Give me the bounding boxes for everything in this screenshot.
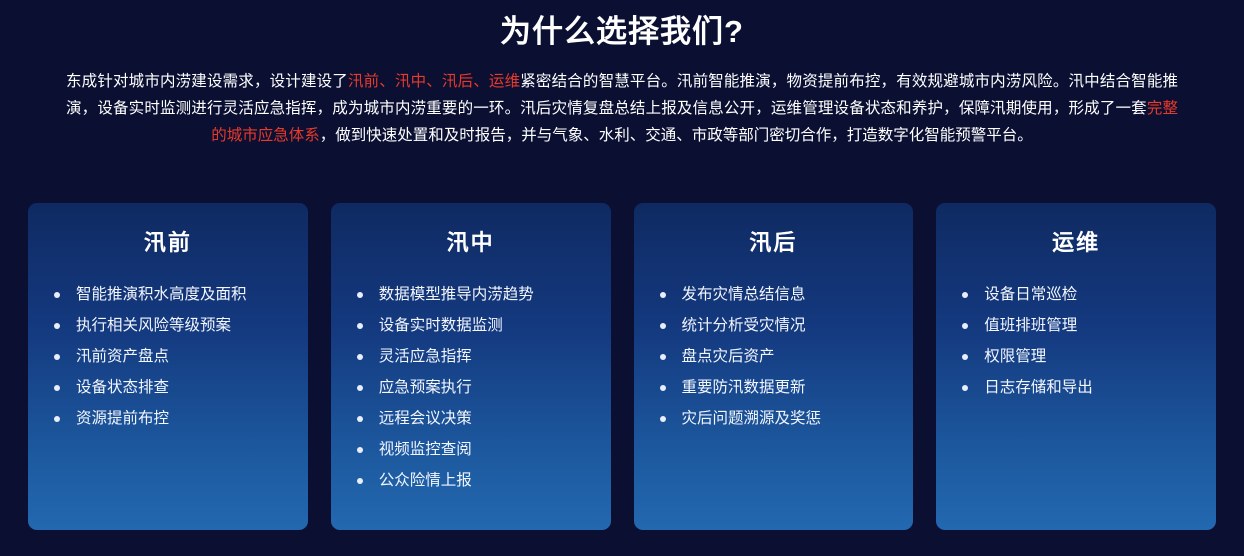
- list-item[interactable]: 数据模型推导内涝趋势: [353, 279, 611, 310]
- list-item[interactable]: 重要防汛数据更新: [656, 372, 914, 403]
- bullet-icon: [54, 323, 60, 329]
- list-item-label: 灵活应急指挥: [379, 348, 472, 365]
- list-item-label: 重要防汛数据更新: [682, 379, 806, 396]
- list-item-label: 日志存储和导出: [984, 379, 1093, 396]
- bullet-icon: [357, 385, 363, 391]
- feature-cards-container: 汛前智能推演积水高度及面积执行相关风险等级预案汛前资产盘点设备状态排查资源提前布…: [28, 203, 1216, 530]
- intro-text: ，做到快速处置和及时报告，并与气象、水利、交通、市政等部门密切合作，打造数字化智…: [320, 127, 1033, 144]
- card-feature-list: 发布灾情总结信息统计分析受灾情况盘点灾后资产重要防汛数据更新灾后问题溯源及奖惩: [634, 279, 914, 434]
- card-title: 汛前: [28, 225, 308, 257]
- list-item[interactable]: 远程会议决策: [353, 403, 611, 434]
- list-item-label: 设备实时数据监测: [379, 317, 503, 334]
- feature-card[interactable]: 汛中数据模型推导内涝趋势设备实时数据监测灵活应急指挥应急预案执行远程会议决策视频…: [331, 203, 611, 530]
- list-item-label: 远程会议决策: [379, 410, 472, 427]
- list-item[interactable]: 应急预案执行: [353, 372, 611, 403]
- list-item[interactable]: 统计分析受灾情况: [656, 310, 914, 341]
- list-item-label: 智能推演积水高度及面积: [76, 286, 247, 303]
- bullet-icon: [660, 385, 666, 391]
- list-item-label: 数据模型推导内涝趋势: [379, 286, 534, 303]
- bullet-icon: [962, 323, 968, 329]
- bullet-icon: [357, 416, 363, 422]
- bullet-icon: [54, 416, 60, 422]
- list-item[interactable]: 公众险情上报: [353, 465, 611, 496]
- bullet-icon: [54, 292, 60, 298]
- list-item-label: 执行相关风险等级预案: [76, 317, 231, 334]
- list-item[interactable]: 设备状态排查: [50, 372, 308, 403]
- bullet-icon: [357, 292, 363, 298]
- list-item-label: 灾后问题溯源及奖惩: [682, 410, 822, 427]
- bullet-icon: [660, 416, 666, 422]
- list-item[interactable]: 日志存储和导出: [958, 372, 1216, 403]
- list-item[interactable]: 汛前资产盘点: [50, 341, 308, 372]
- list-item-label: 值班排班管理: [984, 317, 1077, 334]
- intro-text: 东成针对城市内涝建设需求，设计建设了: [66, 73, 348, 90]
- card-feature-list: 智能推演积水高度及面积执行相关风险等级预案汛前资产盘点设备状态排查资源提前布控: [28, 279, 308, 434]
- list-item-label: 应急预案执行: [379, 379, 472, 396]
- bullet-icon: [660, 292, 666, 298]
- bullet-icon: [357, 447, 363, 453]
- bullet-icon: [357, 478, 363, 484]
- list-item[interactable]: 值班排班管理: [958, 310, 1216, 341]
- bullet-icon: [54, 385, 60, 391]
- list-item[interactable]: 盘点灾后资产: [656, 341, 914, 372]
- bullet-icon: [54, 354, 60, 360]
- list-item[interactable]: 设备日常巡检: [958, 279, 1216, 310]
- list-item-label: 资源提前布控: [76, 410, 169, 427]
- bullet-icon: [962, 292, 968, 298]
- bullet-icon: [357, 323, 363, 329]
- list-item-label: 公众险情上报: [379, 472, 472, 489]
- bullet-icon: [962, 385, 968, 391]
- card-feature-list: 数据模型推导内涝趋势设备实时数据监测灵活应急指挥应急预案执行远程会议决策视频监控…: [331, 279, 611, 496]
- list-item-label: 权限管理: [984, 348, 1046, 365]
- list-item-label: 发布灾情总结信息: [682, 286, 806, 303]
- intro-highlight-text: 汛前、汛中、汛后、运维: [348, 73, 520, 90]
- list-item[interactable]: 智能推演积水高度及面积: [50, 279, 308, 310]
- list-item-label: 设备日常巡检: [984, 286, 1077, 303]
- list-item[interactable]: 发布灾情总结信息: [656, 279, 914, 310]
- bullet-icon: [660, 323, 666, 329]
- card-feature-list: 设备日常巡检值班排班管理权限管理日志存储和导出: [936, 279, 1216, 403]
- list-item[interactable]: 灾后问题溯源及奖惩: [656, 403, 914, 434]
- list-item[interactable]: 设备实时数据监测: [353, 310, 611, 341]
- intro-paragraph: 东成针对城市内涝建设需求，设计建设了汛前、汛中、汛后、运维紧密结合的智慧平台。汛…: [66, 68, 1178, 149]
- list-item[interactable]: 执行相关风险等级预案: [50, 310, 308, 341]
- feature-card[interactable]: 汛后发布灾情总结信息统计分析受灾情况盘点灾后资产重要防汛数据更新灾后问题溯源及奖…: [634, 203, 914, 530]
- card-title: 汛中: [331, 225, 611, 257]
- list-item[interactable]: 权限管理: [958, 341, 1216, 372]
- page-title: 为什么选择我们?: [0, 0, 1244, 52]
- list-item-label: 设备状态排查: [76, 379, 169, 396]
- list-item[interactable]: 资源提前布控: [50, 403, 308, 434]
- list-item-label: 汛前资产盘点: [76, 348, 169, 365]
- list-item[interactable]: 灵活应急指挥: [353, 341, 611, 372]
- list-item-label: 统计分析受灾情况: [682, 317, 806, 334]
- bullet-icon: [357, 354, 363, 360]
- card-title: 汛后: [634, 225, 914, 257]
- intro-paragraph-container: 东成针对城市内涝建设需求，设计建设了汛前、汛中、汛后、运维紧密结合的智慧平台。汛…: [62, 68, 1182, 149]
- feature-card[interactable]: 汛前智能推演积水高度及面积执行相关风险等级预案汛前资产盘点设备状态排查资源提前布…: [28, 203, 308, 530]
- bullet-icon: [962, 354, 968, 360]
- bullet-icon: [660, 354, 666, 360]
- list-item-label: 视频监控查阅: [379, 441, 472, 458]
- feature-card[interactable]: 运维设备日常巡检值班排班管理权限管理日志存储和导出: [936, 203, 1216, 530]
- card-title: 运维: [936, 225, 1216, 257]
- list-item[interactable]: 视频监控查阅: [353, 434, 611, 465]
- list-item-label: 盘点灾后资产: [682, 348, 775, 365]
